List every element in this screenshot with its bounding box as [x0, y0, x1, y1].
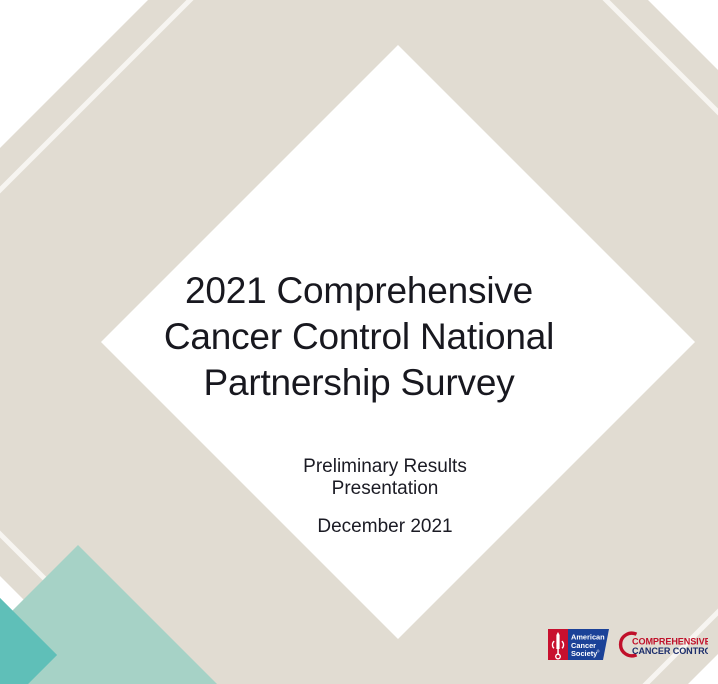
subtitle-line-2: Presentation — [180, 478, 590, 500]
acs-wordmark-line-3: Society — [571, 649, 598, 658]
ccc-wordmark-line-1: COMPREHENSIVE — [632, 637, 708, 647]
slide-title: 2021 Comprehensive Cancer Control Nation… — [120, 268, 598, 406]
slide-content-layer: 2021 Comprehensive Cancer Control Nation… — [0, 0, 718, 684]
presentation-slide: 2021 Comprehensive Cancer Control Nation… — [0, 0, 718, 684]
title-line-2: Cancer Control National — [120, 314, 598, 360]
title-line-1: 2021 Comprehensive — [120, 268, 598, 314]
comprehensive-cancer-control-logo: COMPREHENSIVE CANCER CONTROL — [610, 628, 708, 661]
subtitle-spacer — [180, 500, 590, 516]
slide-subtitle: Preliminary Results Presentation Decembe… — [180, 456, 590, 538]
american-cancer-society-logo: American Cancer Society ® — [548, 628, 610, 661]
logo-group: American Cancer Society ® COMPREHENSIVE … — [548, 628, 708, 664]
subtitle-line-1: Preliminary Results — [180, 456, 590, 478]
slide-date: December 2021 — [180, 516, 590, 538]
title-line-3: Partnership Survey — [120, 360, 598, 406]
ccc-logo-graphic: COMPREHENSIVE CANCER CONTROL — [610, 628, 708, 661]
ccc-wordmark-line-2: CANCER CONTROL — [632, 646, 708, 656]
acs-logo-graphic: American Cancer Society ® — [548, 628, 610, 661]
acs-registered-mark: ® — [597, 649, 600, 654]
